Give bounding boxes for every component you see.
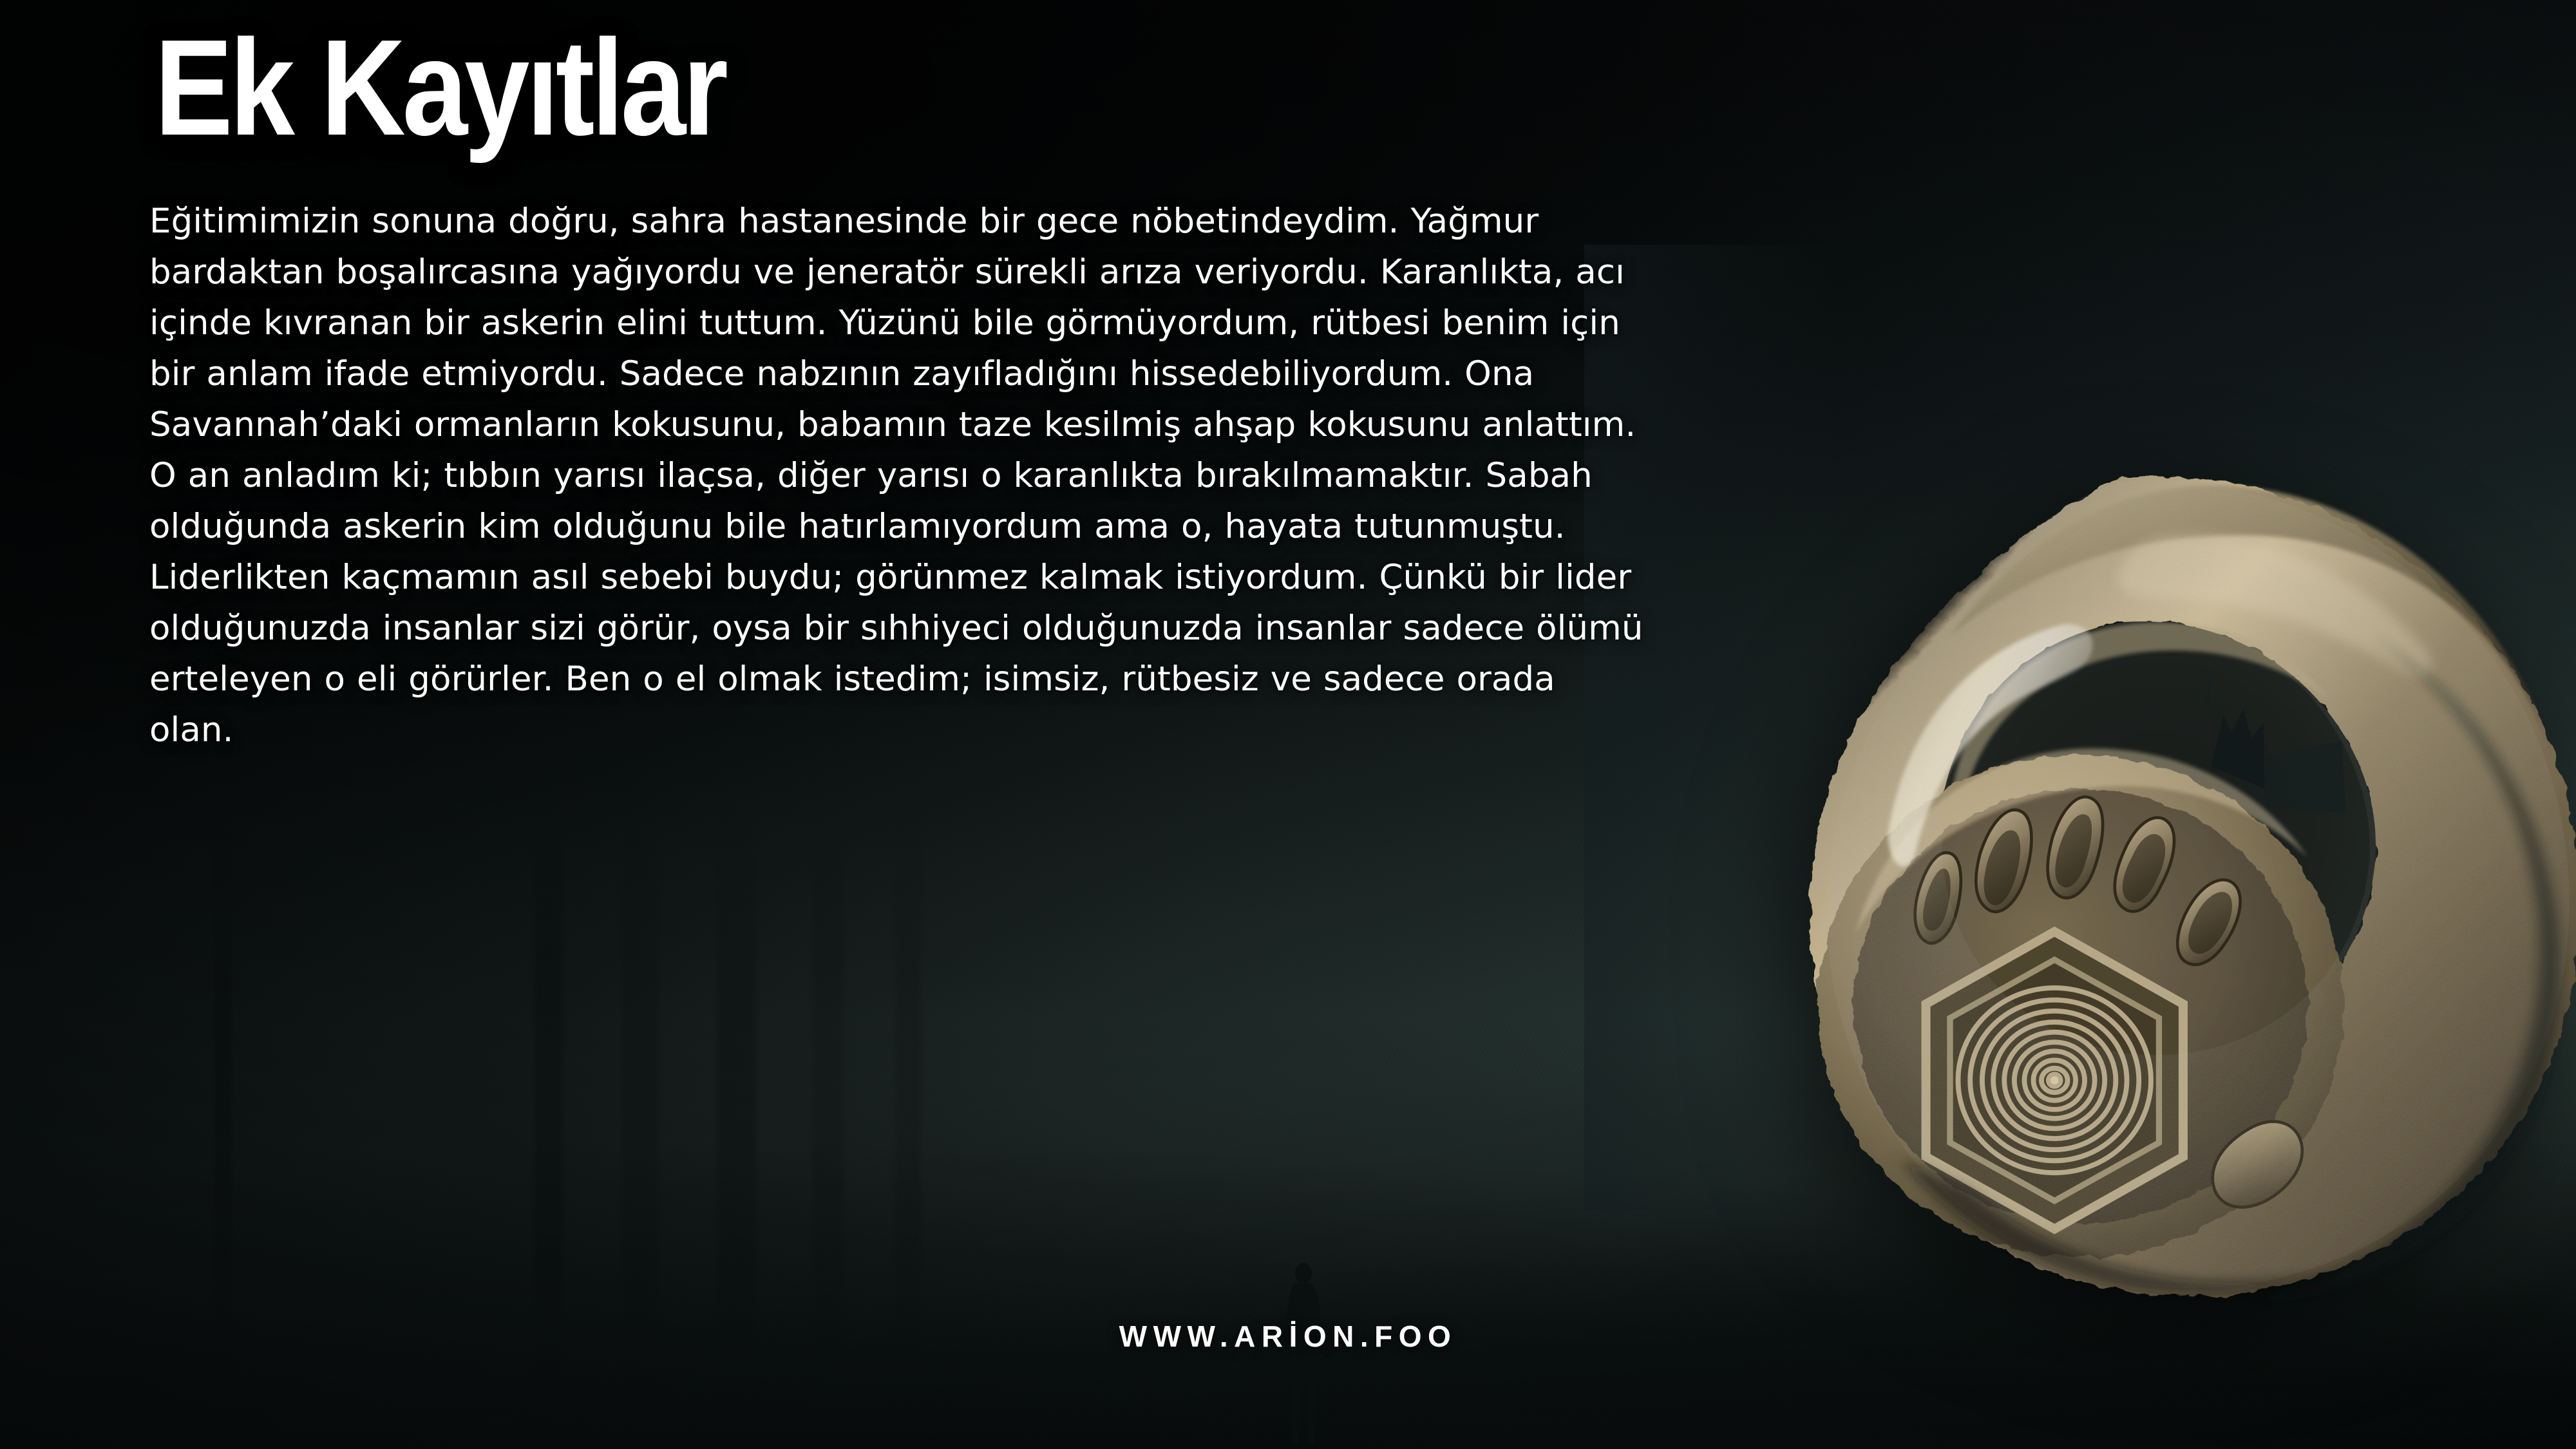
slide-canvas: Ek Kayıtlar Eğitimimizin sonuna doğru, s… [0,0,2576,1449]
content-column: Ek Kayıtlar Eğitimimizin sonuna doğru, s… [147,0,1705,755]
footer: WWW.ARİON.FOO [0,1319,2576,1354]
page-title: Ek Kayıtlar [147,0,1487,158]
signet-ring-image [1649,335,2576,1340]
body-paragraph: Eğitimimizin sonuna doğru, sahra hastane… [147,158,1650,755]
footer-website-url[interactable]: WWW.ARİON.FOO [1119,1319,1457,1354]
